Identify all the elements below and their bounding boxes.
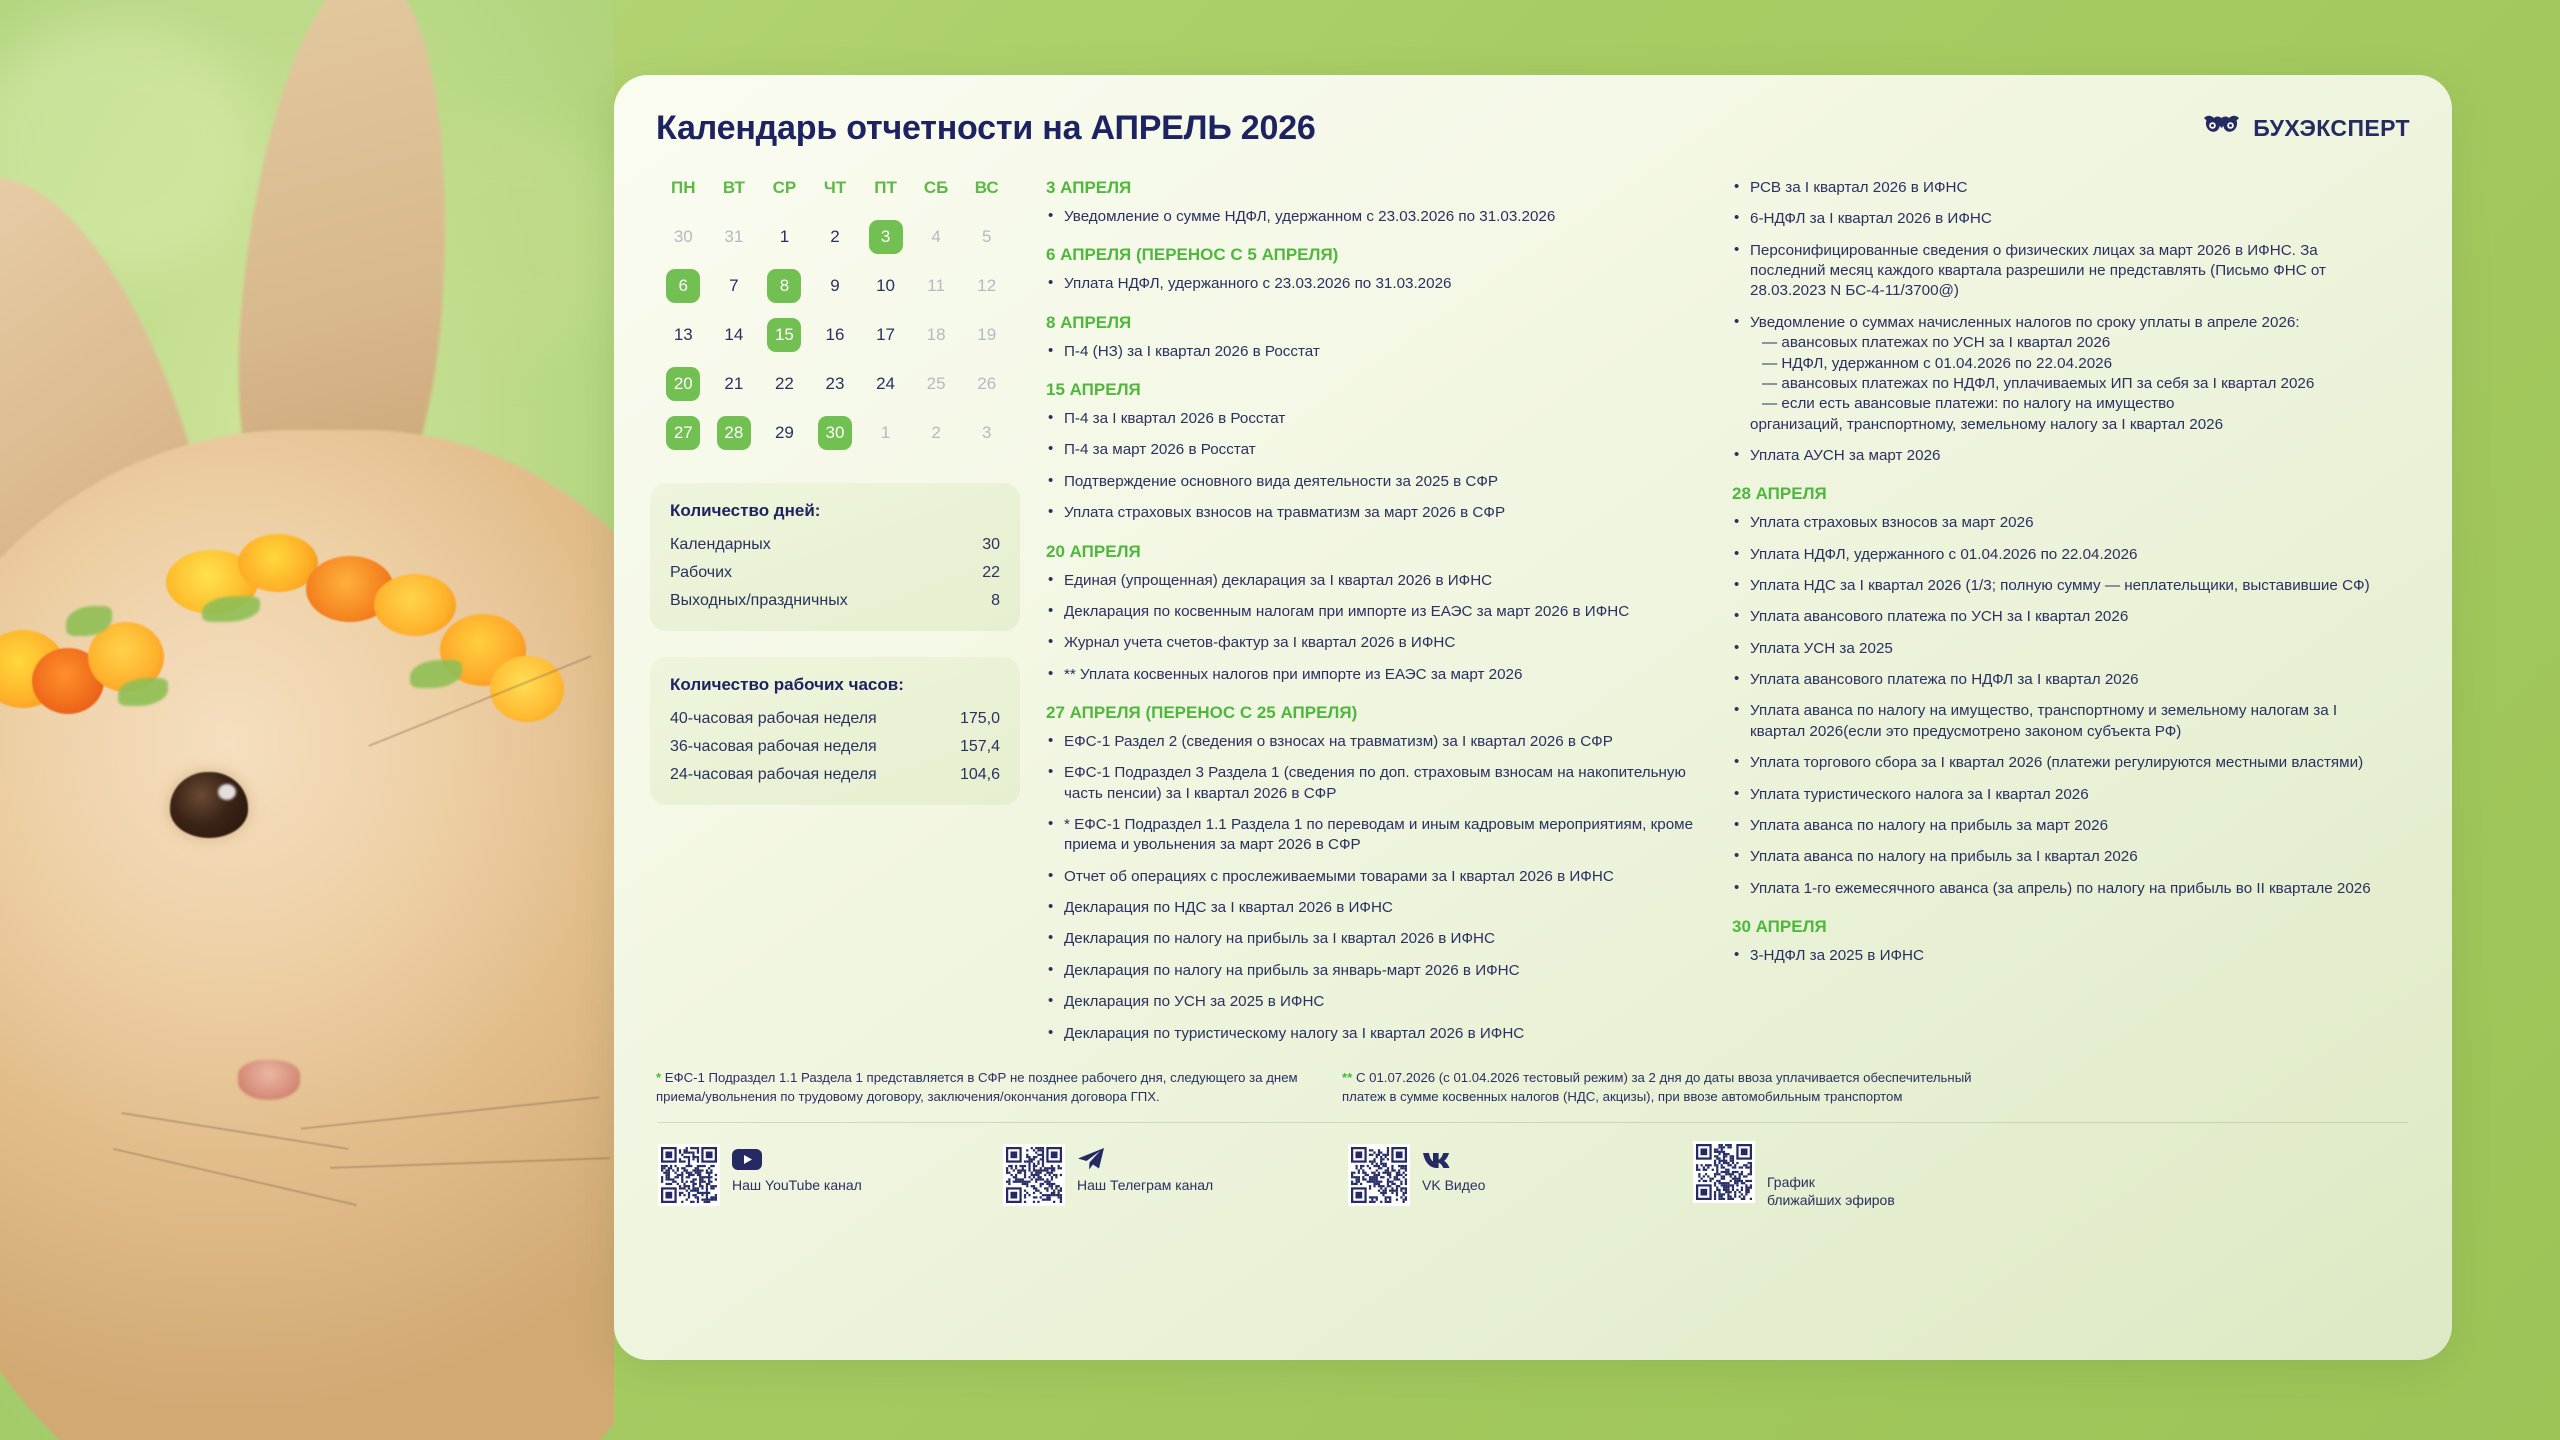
qr-code-1[interactable] bbox=[658, 1144, 720, 1206]
footnote-marker: ** bbox=[1342, 1070, 1356, 1085]
owl-icon bbox=[2202, 114, 2242, 143]
calendar-dow-5: СБ bbox=[911, 178, 962, 212]
calendar-dow-2: СР bbox=[759, 178, 810, 212]
vk-icon bbox=[1422, 1146, 1485, 1172]
social-item-body: Наш YouTube канал bbox=[732, 1144, 862, 1195]
event-item: Уведомление о сумме НДФЛ, удержанном с 2… bbox=[1046, 207, 1706, 227]
calendar-cell: 3 bbox=[860, 218, 911, 255]
event-item: П-4 за март 2026 в Росстат bbox=[1046, 440, 1706, 460]
calendar-cell: 22 bbox=[759, 365, 810, 402]
calendar-cell: 17 bbox=[860, 316, 911, 353]
calendar-day[interactable]: 1 bbox=[767, 220, 801, 254]
event-date-heading: 20 АПРЕЛЯ bbox=[1046, 542, 1706, 562]
work-hours-value: 175,0 bbox=[960, 710, 1000, 728]
event-subitem: — авансовых платежах по НДФЛ, уплачиваем… bbox=[1750, 374, 2392, 394]
days-count-value: 8 bbox=[991, 592, 1000, 610]
event-date-heading: 6 АПРЕЛЯ (ПЕРЕНОС С 5 АПРЕЛЯ) bbox=[1046, 245, 1706, 265]
calendar-cell: 7 bbox=[709, 267, 760, 304]
calendar-cell: 11 bbox=[911, 267, 962, 304]
calendar-cell: 10 bbox=[860, 267, 911, 304]
event-list: ЕФС-1 Раздел 2 (сведения о взносах на тр… bbox=[1046, 732, 1706, 1044]
event-list: П-4 (НЗ) за I квартал 2026 в Росстат bbox=[1046, 342, 1706, 362]
none bbox=[1767, 1143, 1895, 1169]
event-item: Уплата аванса по налогу на прибыль за I … bbox=[1732, 847, 2392, 867]
event-item: Подтверждение основного вида деятельност… bbox=[1046, 472, 1706, 492]
calendar-dow-1: ВТ bbox=[709, 178, 760, 212]
event-item: Персонифицированные сведения о физически… bbox=[1732, 241, 2392, 302]
calendar-day[interactable]: 11 bbox=[919, 269, 953, 303]
event-item: Декларация по туристическому налогу за I… bbox=[1046, 1024, 1706, 1044]
calendar-cell: 5 bbox=[961, 218, 1012, 255]
social-item[interactable]: Наш YouTube канал bbox=[658, 1144, 1003, 1206]
event-item: Уплата АУСН за март 2026 bbox=[1732, 446, 2392, 466]
calendar-cell: 26 bbox=[961, 365, 1012, 402]
calendar-day[interactable]: 29 bbox=[767, 416, 801, 450]
month-calendar: ПНВТСРЧТПТСБВС 3031123456789101112131415… bbox=[650, 178, 1020, 457]
event-item: Уплата аванса по налогу на имущество, тр… bbox=[1732, 701, 2392, 742]
events-column-middle: 3 АПРЕЛЯУведомление о сумме НДФЛ, удержа… bbox=[1046, 178, 1706, 1055]
event-item: Уплата 1-го ежемесячного аванса (за апре… bbox=[1732, 879, 2392, 899]
event-date-heading: 30 АПРЕЛЯ bbox=[1732, 917, 2392, 937]
calendar-day[interactable]: 1 bbox=[869, 416, 903, 450]
event-item: Декларация по НДС за I квартал 2026 в ИФ… bbox=[1046, 898, 1706, 918]
calendar-day[interactable]: 5 bbox=[970, 220, 1004, 254]
calendar-dow-6: ВС bbox=[961, 178, 1012, 212]
left-column: ПНВТСРЧТПТСБВС 3031123456789101112131415… bbox=[650, 178, 1020, 1055]
days-count-label: Рабочих bbox=[670, 564, 732, 582]
work-hours-row: 40-часовая рабочая неделя175,0 bbox=[670, 705, 1000, 733]
brand-logo[interactable]: БУХЭКСПЕРТ bbox=[2202, 114, 2410, 143]
days-count-title: Количество дней: bbox=[670, 501, 1000, 521]
event-list: П-4 за I квартал 2026 в РосстатП-4 за ма… bbox=[1046, 409, 1706, 523]
social-item-label: Наш Телеграм канал bbox=[1077, 1177, 1213, 1195]
calendar-day[interactable]: 24 bbox=[869, 367, 903, 401]
calendar-dow-0: ПН bbox=[658, 178, 709, 212]
work-hours-row: 36-часовая рабочая неделя157,4 bbox=[670, 733, 1000, 761]
event-date-heading: 15 АПРЕЛЯ bbox=[1046, 380, 1706, 400]
calendar-card: Календарь отчетности на АПРЕЛЬ 2026 БУХЭ… bbox=[614, 75, 2452, 1360]
event-subitem-tail: организаций, транспортному, земельному н… bbox=[1750, 415, 2392, 435]
calendar-week-row: 6789101112 bbox=[658, 261, 1012, 310]
days-count-label: Календарных bbox=[670, 536, 771, 554]
calendar-day-deadline[interactable]: 27 bbox=[666, 416, 700, 450]
calendar-day[interactable]: 14 bbox=[717, 318, 751, 352]
calendar-day[interactable]: 17 bbox=[869, 318, 903, 352]
event-date-heading: 28 АПРЕЛЯ bbox=[1732, 484, 2392, 504]
event-item: Единая (упрощенная) декларация за I квар… bbox=[1046, 571, 1706, 591]
days-count-row: Рабочих22 bbox=[670, 559, 1000, 587]
calendar-day[interactable]: 19 bbox=[970, 318, 1004, 352]
calendar-cell: 1 bbox=[759, 218, 810, 255]
calendar-day[interactable]: 13 bbox=[666, 318, 700, 352]
calendar-week-row: 303112345 bbox=[658, 212, 1012, 261]
event-item: Отчет об операциях с прослеживаемыми тов… bbox=[1046, 867, 1706, 887]
event-item: Уплата авансового платежа по УСН за I кв… bbox=[1732, 607, 2392, 627]
work-hours-rows: 40-часовая рабочая неделя175,036-часовая… bbox=[670, 705, 1000, 789]
social-item-body: Графикближайших эфиров bbox=[1767, 1141, 1895, 1209]
calendar-cell: 19 bbox=[961, 316, 1012, 353]
calendar-day[interactable]: 7 bbox=[717, 269, 751, 303]
calendar-cell: 6 bbox=[658, 267, 709, 304]
calendar-cell: 25 bbox=[911, 365, 962, 402]
calendar-day[interactable]: 2 bbox=[919, 416, 953, 450]
event-item: Декларация по налогу на прибыль за I ква… bbox=[1046, 929, 1706, 949]
event-date-heading: 27 АПРЕЛЯ (ПЕРЕНОС С 25 АПРЕЛЯ) bbox=[1046, 703, 1706, 723]
events-column-right: РСВ за I квартал 2026 в ИФНС6-НДФЛ за I … bbox=[1732, 178, 2392, 1055]
calendar-day-deadline[interactable]: 28 bbox=[717, 416, 751, 450]
bunny-photo bbox=[0, 0, 614, 1440]
social-item[interactable]: VK Видео bbox=[1348, 1144, 1693, 1206]
calendar-day[interactable]: 10 bbox=[869, 269, 903, 303]
calendar-cell: 21 bbox=[709, 365, 760, 402]
calendar-day[interactable]: 30 bbox=[666, 220, 700, 254]
days-count-box: Количество дней: Календарных30Рабочих22В… bbox=[650, 483, 1020, 631]
calendar-cell: 12 bbox=[961, 267, 1012, 304]
event-item: РСВ за I квартал 2026 в ИФНС bbox=[1732, 178, 2392, 198]
calendar-day[interactable]: 22 bbox=[767, 367, 801, 401]
event-item: Уплата УСН за 2025 bbox=[1732, 639, 2392, 659]
calendar-day-deadline[interactable]: 3 bbox=[869, 220, 903, 254]
calendar-cell: 9 bbox=[810, 267, 861, 304]
calendar-cell: 3 bbox=[961, 414, 1012, 451]
social-item-label: Графикближайших эфиров bbox=[1767, 1174, 1895, 1209]
event-item: Журнал учета счетов-фактур за I квартал … bbox=[1046, 633, 1706, 653]
social-item-label: VK Видео bbox=[1422, 1177, 1485, 1195]
calendar-cell: 4 bbox=[911, 218, 962, 255]
event-item: П-4 (НЗ) за I квартал 2026 в Росстат bbox=[1046, 342, 1706, 362]
flower-wreath bbox=[0, 560, 590, 750]
calendar-day[interactable]: 4 bbox=[919, 220, 953, 254]
work-hours-row: 24-часовая рабочая неделя104,6 bbox=[670, 761, 1000, 789]
event-item: Декларация по налогу на прибыль за январ… bbox=[1046, 961, 1706, 981]
days-count-rows: Календарных30Рабочих22Выходных/праздничн… bbox=[670, 531, 1000, 615]
calendar-day[interactable]: 3 bbox=[970, 416, 1004, 450]
event-item: Уплата НДФЛ, удержанного с 01.04.2026 по… bbox=[1732, 545, 2392, 565]
calendar-dow-3: ЧТ bbox=[810, 178, 861, 212]
card-header: Календарь отчетности на АПРЕЛЬ 2026 БУХЭ… bbox=[650, 103, 2416, 148]
calendar-week-row: 13141516171819 bbox=[658, 310, 1012, 359]
telegram-icon bbox=[1077, 1146, 1213, 1172]
calendar-day[interactable]: 23 bbox=[818, 367, 852, 401]
qr-code-2[interactable] bbox=[1003, 1144, 1065, 1206]
event-item: 3-НДФЛ за 2025 в ИФНС bbox=[1732, 946, 2392, 966]
calendar-cell: 16 bbox=[810, 316, 861, 353]
calendar-cell: 14 bbox=[709, 316, 760, 353]
brand-name: БУХЭКСПЕРТ bbox=[2253, 115, 2410, 142]
social-item-body: Наш Телеграм канал bbox=[1077, 1144, 1213, 1195]
calendar-dow-4: ПТ bbox=[860, 178, 911, 212]
calendar-cell: 2 bbox=[810, 218, 861, 255]
page-title: Календарь отчетности на АПРЕЛЬ 2026 bbox=[656, 109, 1316, 148]
event-subitem: — авансовых платежах по УСН за I квартал… bbox=[1750, 333, 2392, 353]
calendar-day-deadline[interactable]: 8 bbox=[767, 269, 801, 303]
work-hours-value: 104,6 bbox=[960, 766, 1000, 784]
event-item: ЕФС-1 Раздел 2 (сведения о взносах на тр… bbox=[1046, 732, 1706, 752]
calendar-cell: 30 bbox=[810, 414, 861, 451]
event-item: ЕФС-1 Подраздел 3 Раздела 1 (сведения по… bbox=[1046, 763, 1706, 804]
event-item: Уплата НДС за I квартал 2026 (1/3; полну… bbox=[1732, 576, 2392, 596]
work-hours-label: 40-часовая рабочая неделя bbox=[670, 710, 877, 728]
event-list: Уплата страховых взносов за март 2026Упл… bbox=[1732, 513, 2392, 899]
event-item: Уплата авансового платежа по НДФЛ за I к… bbox=[1732, 670, 2392, 690]
calendar-cell: 1 bbox=[860, 414, 911, 451]
calendar-day[interactable]: 18 bbox=[919, 318, 953, 352]
qr-code-4[interactable] bbox=[1693, 1141, 1755, 1203]
calendar-week-row: 20212223242526 bbox=[658, 359, 1012, 408]
social-item-body: VK Видео bbox=[1422, 1144, 1485, 1195]
event-item: Декларация по косвенным налогам при импо… bbox=[1046, 602, 1706, 622]
calendar-cell: 24 bbox=[860, 365, 911, 402]
event-subitem: — НДФЛ, удержанном с 01.04.2026 по 22.04… bbox=[1750, 354, 2392, 374]
calendar-cell: 27 bbox=[658, 414, 709, 451]
event-item: Уплата аванса по налогу на прибыль за ма… bbox=[1732, 816, 2392, 836]
event-list: РСВ за I квартал 2026 в ИФНС6-НДФЛ за I … bbox=[1732, 178, 2392, 466]
calendar-day[interactable]: 9 bbox=[818, 269, 852, 303]
calendar-day[interactable]: 21 bbox=[717, 367, 751, 401]
work-hours-title: Количество рабочих часов: bbox=[670, 675, 1000, 695]
calendar-day[interactable]: 25 bbox=[919, 367, 953, 401]
event-list: Единая (упрощенная) декларация за I квар… bbox=[1046, 571, 1706, 685]
days-count-label: Выходных/праздничных bbox=[670, 592, 848, 610]
event-date-heading: 8 АПРЕЛЯ bbox=[1046, 313, 1706, 333]
calendar-dow-row: ПНВТСРЧТПТСБВС bbox=[658, 178, 1012, 212]
card-body: ПНВТСРЧТПТСБВС 3031123456789101112131415… bbox=[650, 178, 2416, 1055]
event-item: П-4 за I квартал 2026 в Росстат bbox=[1046, 409, 1706, 429]
social-item[interactable]: Графикближайших эфиров bbox=[1693, 1141, 2038, 1209]
calendar-week-row: 27282930123 bbox=[658, 408, 1012, 457]
days-count-value: 22 bbox=[982, 564, 1000, 582]
calendar-day[interactable]: 26 bbox=[970, 367, 1004, 401]
event-item: Уплата торгового сбора за I квартал 2026… bbox=[1732, 753, 2392, 773]
calendar-day-deadline[interactable]: 20 bbox=[666, 367, 700, 401]
event-item: Уведомление о суммах начисленных налогов… bbox=[1732, 313, 2392, 435]
days-count-value: 30 bbox=[982, 536, 1000, 554]
calendar-day[interactable]: 31 bbox=[717, 220, 751, 254]
event-item: Уплата туристического налога за I кварта… bbox=[1732, 785, 2392, 805]
calendar-cell: 8 bbox=[759, 267, 810, 304]
calendar-cell: 31 bbox=[709, 218, 760, 255]
days-count-row: Выходных/праздничных8 bbox=[670, 587, 1000, 615]
calendar-weeks: 3031123456789101112131415161718192021222… bbox=[658, 212, 1012, 457]
social-item-label: Наш YouTube канал bbox=[732, 1177, 862, 1195]
calendar-cell: 30 bbox=[658, 218, 709, 255]
work-hours-value: 157,4 bbox=[960, 738, 1000, 756]
footnote: ** С 01.07.2026 (с 01.04.2026 тестовый р… bbox=[1342, 1069, 2002, 1106]
social-links: Наш YouTube каналНаш Телеграм каналVK Ви… bbox=[650, 1123, 2416, 1209]
calendar-day-deadline[interactable]: 6 bbox=[666, 269, 700, 303]
youtube-icon bbox=[732, 1146, 862, 1172]
event-list: Уведомление о сумме НДФЛ, удержанном с 2… bbox=[1046, 207, 1706, 227]
event-subitem: — если есть авансовые платежи: по налогу… bbox=[1750, 394, 2392, 414]
calendar-cell: 15 bbox=[759, 316, 810, 353]
calendar-cell: 28 bbox=[709, 414, 760, 451]
event-item: 6-НДФЛ за I квартал 2026 в ИФНС bbox=[1732, 209, 2392, 229]
event-item: Декларация по УСН за 2025 в ИФНС bbox=[1046, 992, 1706, 1012]
calendar-cell: 2 bbox=[911, 414, 962, 451]
bunny-eye bbox=[170, 772, 248, 838]
event-item: * ЕФС-1 Подраздел 1.1 Раздела 1 по перев… bbox=[1046, 815, 1706, 856]
event-list: 3-НДФЛ за 2025 в ИФНС bbox=[1732, 946, 2392, 966]
calendar-cell: 20 bbox=[658, 365, 709, 402]
footnotes: * ЕФС-1 Подраздел 1.1 Раздела 1 представ… bbox=[650, 1069, 2416, 1106]
event-item: Уплата НДФЛ, удержанного с 23.03.2026 по… bbox=[1046, 274, 1706, 294]
event-item: ** Уплата косвенных налогов при импорте … bbox=[1046, 665, 1706, 685]
days-count-row: Календарных30 bbox=[670, 531, 1000, 559]
work-hours-box: Количество рабочих часов: 40-часовая раб… bbox=[650, 657, 1020, 805]
calendar-cell: 13 bbox=[658, 316, 709, 353]
event-item: Уплата страховых взносов на травматизм з… bbox=[1046, 503, 1706, 523]
calendar-day[interactable]: 2 bbox=[818, 220, 852, 254]
calendar-day[interactable]: 12 bbox=[970, 269, 1004, 303]
event-item: Уплата страховых взносов за март 2026 bbox=[1732, 513, 2392, 533]
bunny-nose bbox=[238, 1060, 300, 1100]
calendar-day[interactable]: 16 bbox=[818, 318, 852, 352]
calendar-cell: 23 bbox=[810, 365, 861, 402]
work-hours-label: 24-часовая рабочая неделя bbox=[670, 766, 877, 784]
event-date-heading: 3 АПРЕЛЯ bbox=[1046, 178, 1706, 198]
calendar-day-deadline[interactable]: 30 bbox=[818, 416, 852, 450]
event-list: Уплата НДФЛ, удержанного с 23.03.2026 по… bbox=[1046, 274, 1706, 294]
qr-code-3[interactable] bbox=[1348, 1144, 1410, 1206]
footnote: * ЕФС-1 Подраздел 1.1 Раздела 1 представ… bbox=[656, 1069, 1316, 1106]
calendar-day-deadline[interactable]: 15 bbox=[767, 318, 801, 352]
social-item[interactable]: Наш Телеграм канал bbox=[1003, 1144, 1348, 1206]
work-hours-label: 36-часовая рабочая неделя bbox=[670, 738, 877, 756]
footnote-marker: * bbox=[656, 1070, 665, 1085]
calendar-cell: 29 bbox=[759, 414, 810, 451]
calendar-cell: 18 bbox=[911, 316, 962, 353]
